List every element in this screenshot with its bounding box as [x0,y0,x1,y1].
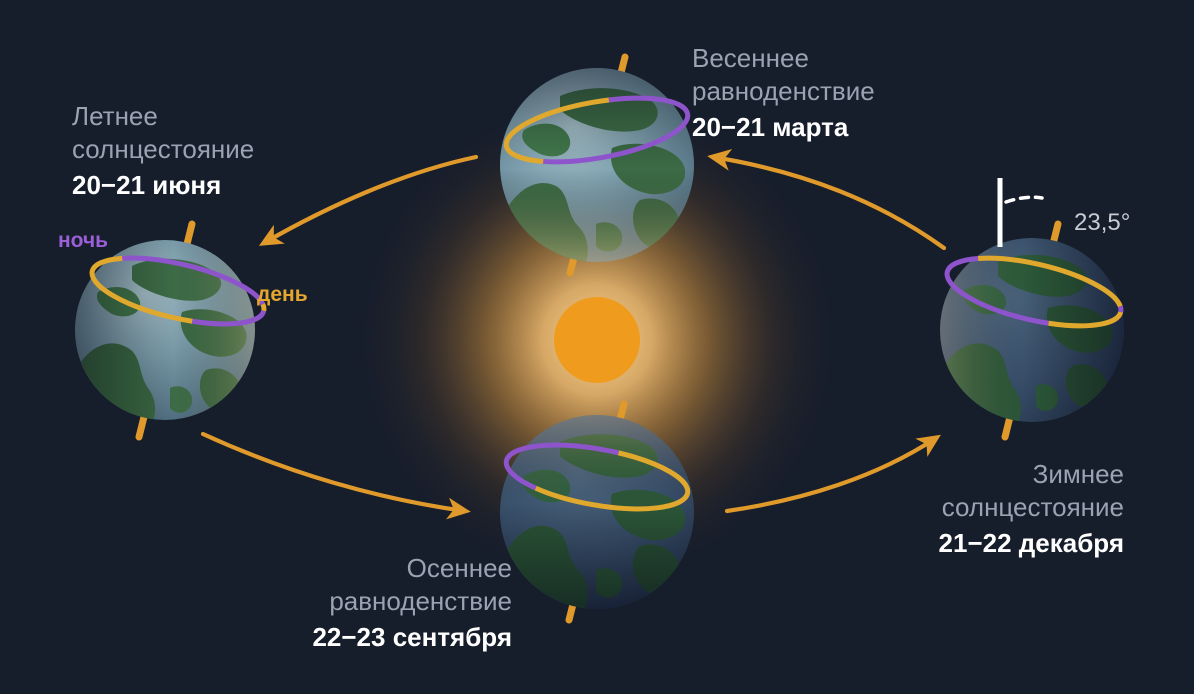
night-ring-label: ночь [58,229,108,253]
earth-shade-summer [75,240,255,420]
label-spring-equinox: Весеннее равноденствие 20−21 марта [692,42,875,144]
earth-shade-spring [500,68,694,262]
winter-solstice-title-line2: солнцестояние [939,491,1124,524]
label-winter-solstice: Зимнее солнцестояние 21−22 декабря [939,458,1124,560]
summer-solstice-date: 20−21 июня [72,169,254,202]
label-autumn-equinox: Осеннее равноденствие 22−23 сентября [222,552,512,654]
tilt-annotation [1000,178,1042,247]
autumn-equinox-title-line2: равноденствие [222,585,512,618]
earth-shade-winter [940,238,1124,422]
spring-equinox-date: 20−21 марта [692,111,875,144]
autumn-equinox-title-line1: Осеннее [222,552,512,585]
summer-solstice-title-line2: солнцестояние [72,133,254,166]
spring-equinox-title-line1: Весеннее [692,42,875,75]
day-ring-label: день [257,283,308,307]
winter-solstice-title-line1: Зимнее [939,458,1124,491]
earth-shade-autumn [500,415,694,609]
earth-summer-solstice [75,224,270,442]
autumn-equinox-date: 22−23 сентября [222,621,512,654]
tilt-angle-arc [1006,197,1042,202]
axial-tilt-value: 23,5° [1074,209,1130,237]
sun-disc [554,297,640,383]
seasons-diagram: Летнее солнцестояние 20−21 июня Весеннее… [0,0,1194,694]
winter-solstice-date: 21−22 декабря [939,527,1124,560]
summer-solstice-title-line1: Летнее [72,100,254,133]
spring-equinox-title-line2: равноденствие [692,75,875,108]
earth-winter-solstice [940,224,1127,442]
label-summer-solstice: Летнее солнцестояние 20−21 июня [72,100,254,202]
